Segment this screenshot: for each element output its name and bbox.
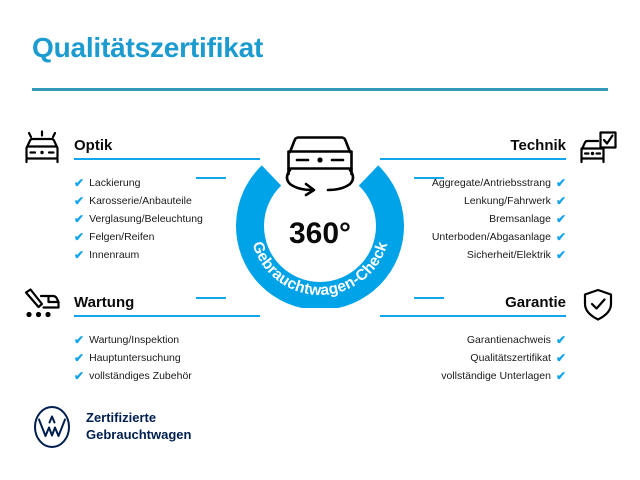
vw-footer: Zertifizierte Gebrauchtwagen xyxy=(30,405,191,449)
list-item-label: Karosserie/Anbauteile xyxy=(89,193,192,209)
list-item-label: Garantienachweis xyxy=(467,332,551,348)
check-icon: ✔ xyxy=(556,352,566,364)
section-wartung-underline xyxy=(74,315,260,317)
section-technik-header: Technik xyxy=(380,128,620,168)
car-rotate-icon xyxy=(287,138,353,196)
page-title: Qualitätszertifikat xyxy=(32,32,263,64)
check-icon: ✔ xyxy=(74,177,84,189)
qualitaetszertifikat-page: Qualitätszertifikat xyxy=(0,0,640,480)
check-icon: ✔ xyxy=(556,195,566,207)
list-item-label: Felgen/Reifen xyxy=(89,229,154,245)
shield-check-icon xyxy=(576,285,620,325)
left-column: Optik ✔ Lackierung ✔ Karosserie/Anbautei… xyxy=(20,128,260,400)
list-item-label: Wartung/Inspektion xyxy=(89,332,179,348)
section-garantie-header: Garantie xyxy=(380,285,620,325)
list-item: ✔ Hauptuntersuchung xyxy=(74,350,260,366)
check-icon: ✔ xyxy=(556,249,566,261)
vw-logo-icon xyxy=(30,405,74,449)
list-item-label: vollständiges Zubehör xyxy=(89,368,192,384)
section-optik-header: Optik xyxy=(20,128,260,168)
right-column: Technik ✔ Aggregate/Antriebsstrang ✔ Len… xyxy=(380,128,620,400)
title-divider xyxy=(32,88,608,91)
section-wartung-list: ✔ Wartung/Inspektion ✔ Hauptuntersuchung… xyxy=(20,332,260,384)
list-item-label: Lackierung xyxy=(89,175,140,191)
section-wartung: Wartung ✔ Wartung/Inspektion ✔ Hauptunte… xyxy=(20,285,260,384)
list-item-label: Lenkung/Fahrwerk xyxy=(464,193,551,209)
list-item-label: Hauptuntersuchung xyxy=(89,350,181,366)
check-icon: ✔ xyxy=(74,352,84,364)
car-service-tool-icon xyxy=(20,285,64,325)
check-icon: ✔ xyxy=(556,334,566,346)
section-technik-list: ✔ Aggregate/Antriebsstrang ✔ Lenkung/Fah… xyxy=(380,175,620,263)
car-shine-icon xyxy=(20,128,64,168)
section-technik: Technik ✔ Aggregate/Antriebsstrang ✔ Len… xyxy=(380,128,620,263)
vw-footer-text: Zertifizierte Gebrauchtwagen xyxy=(86,410,191,443)
check-icon: ✔ xyxy=(74,249,84,261)
list-item-label: Verglasung/Beleuchtung xyxy=(89,211,203,227)
list-item-label: Unterboden/Abgasanlage xyxy=(432,229,551,245)
list-item: ✔ vollständiges Zubehör xyxy=(74,368,260,384)
check-icon: ✔ xyxy=(556,177,566,189)
vw-footer-line2: Gebrauchtwagen xyxy=(86,427,191,444)
section-garantie-underline xyxy=(380,315,566,317)
car-checkbox-icon xyxy=(576,128,620,168)
list-item: ✔ Garantienachweis xyxy=(380,332,566,348)
check-icon: ✔ xyxy=(74,370,84,382)
check-icon: ✔ xyxy=(74,213,84,225)
list-item-label: Aggregate/Antriebsstrang xyxy=(432,175,551,191)
section-optik-list: ✔ Lackierung ✔ Karosserie/Anbauteile ✔ V… xyxy=(20,175,260,263)
check-icon: ✔ xyxy=(74,334,84,346)
list-item: ✔ vollständige Unterlagen xyxy=(380,368,566,384)
section-garantie: Garantie ✔ Garantienachweis ✔ Qualitätsz… xyxy=(380,285,620,384)
section-garantie-list: ✔ Garantienachweis ✔ Qualitätszertifikat… xyxy=(380,332,620,384)
gebrauchtwagen-check-badge: Gebrauchtwagen-Check 360° xyxy=(228,118,412,308)
check-icon: ✔ xyxy=(556,213,566,225)
check-icon: ✔ xyxy=(74,231,84,243)
section-optik: Optik ✔ Lackierung ✔ Karosserie/Anbautei… xyxy=(20,128,260,263)
list-item-label: Bremsanlage xyxy=(489,211,551,227)
list-item-label: Sicherheit/Elektrik xyxy=(467,247,551,263)
vw-footer-line1: Zertifizierte xyxy=(86,410,191,427)
check-icon: ✔ xyxy=(556,231,566,243)
list-item-label: Innenraum xyxy=(89,247,139,263)
badge-center-label: 360° xyxy=(289,217,351,250)
check-icon: ✔ xyxy=(74,195,84,207)
list-item: ✔ Qualitätszertifikat xyxy=(380,350,566,366)
check-icon: ✔ xyxy=(556,370,566,382)
list-item-label: vollständige Unterlagen xyxy=(441,368,551,384)
section-wartung-header: Wartung xyxy=(20,285,260,325)
list-item: ✔ Wartung/Inspektion xyxy=(74,332,260,348)
list-item-label: Qualitätszertifikat xyxy=(470,350,551,366)
